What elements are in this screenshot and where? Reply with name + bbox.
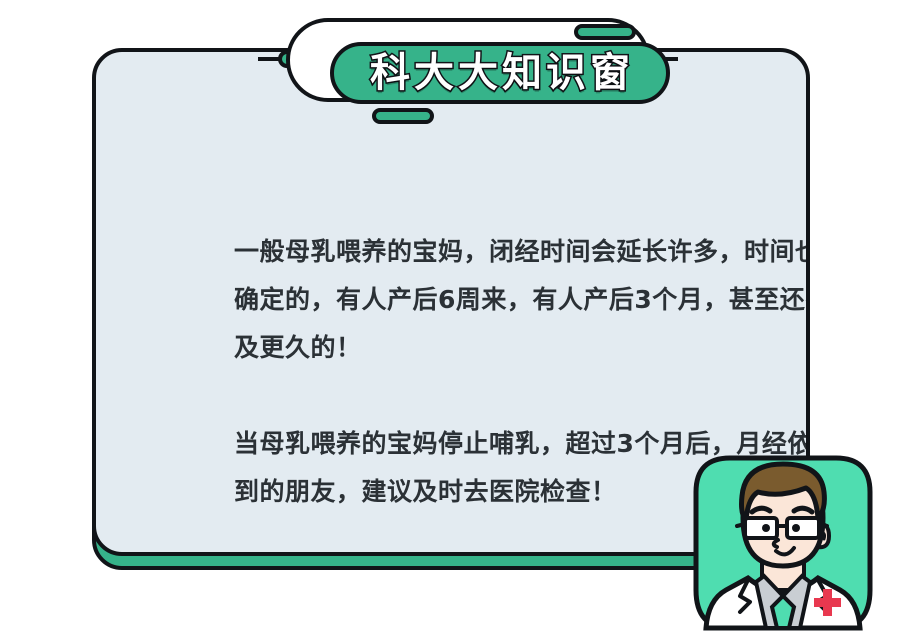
badge-tab-top [574,24,636,40]
badge-outer-frame: 科大大知识窗 [286,18,650,102]
screenshot-stage: 一般母乳喂养的宝妈，闭经时间会延长许多，时间也是不确定的，有人产后6周来，有人产… [0,0,900,635]
badge-inner-fill: 科大大知识窗 [330,42,670,104]
paragraph-1: 一般母乳喂养的宝妈，闭经时间会延长许多，时间也是不确定的，有人产后6周来，有人产… [234,228,810,372]
badge-tab-bottom [372,108,434,124]
doctor-avatar [688,450,878,635]
badge-title-text: 科大大知识窗 [370,53,634,93]
title-badge: 科大大知识窗 [258,10,678,110]
